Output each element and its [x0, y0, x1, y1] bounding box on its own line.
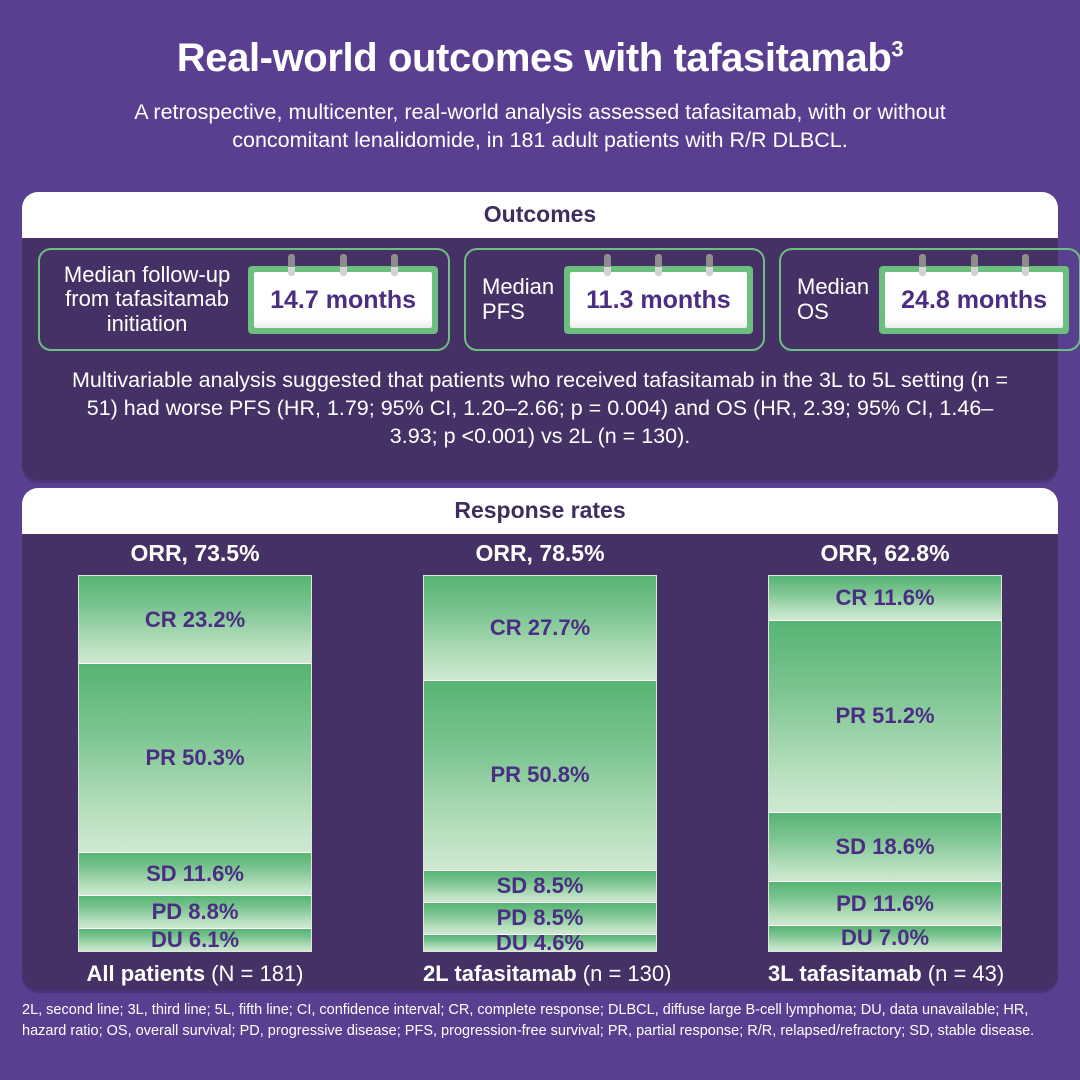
bar-segment-label: DU 4.6% [496, 934, 584, 951]
calendar-face: 24.8 months [885, 272, 1063, 328]
page-title: Real-world outcomes with tafasitamab3 [0, 0, 1080, 80]
outcomes-panel: Outcomes Median follow-up from tafasitam… [22, 192, 1058, 480]
calendar-rings [564, 254, 753, 276]
bar-caption: 3L tafasitamab (n = 43) [768, 961, 1002, 987]
bar-segment-du: DU 4.6% [424, 934, 656, 951]
calendar-ring-icon [340, 254, 347, 276]
bar-caption-n: (N = 181) [211, 961, 303, 986]
outcome-label-median-os: Median OS [791, 275, 875, 324]
bar-segment-label: SD 11.6% [146, 861, 244, 887]
orr-label: ORR, 78.5% [423, 540, 657, 567]
bar-segment-cr: CR 11.6% [769, 576, 1001, 620]
bar-segment-label: PR 50.3% [145, 745, 244, 771]
outcome-label-median-pfs: Median PFS [476, 275, 560, 324]
outcome-value-median-pfs: 11.3 months [586, 286, 731, 315]
bar-caption: 2L tafasitamab (n = 130) [423, 961, 657, 987]
calendar-face: 14.7 months [254, 272, 432, 328]
outcomes-panel-title: Outcomes [22, 192, 1058, 238]
bar-segment-label: PD 11.6% [836, 891, 934, 917]
calendar-rings [248, 254, 438, 276]
bar-caption: All patients (N = 181) [78, 961, 312, 987]
bar-segment-label: CR 23.2% [145, 607, 245, 633]
bar-segment-label: CR 11.6% [835, 585, 934, 611]
calendar-card-median-pfs: 11.3 months [564, 266, 753, 334]
bar-segment-sd: SD 11.6% [79, 852, 311, 896]
outcome-card-median-os: Median OS 24.8 months [779, 248, 1080, 351]
bar-segment-cr: CR 23.2% [79, 576, 311, 663]
bar-segment-sd: SD 18.6% [769, 812, 1001, 882]
stacked-bar: CR 27.7%PR 50.8%SD 8.5%PD 8.5%DU 4.6% [423, 575, 657, 952]
response-rates-panel: Response rates ORR, 73.5%CR 23.2%PR 50.3… [22, 488, 1058, 990]
calendar-ring-icon [706, 254, 713, 276]
bar-segment-label: SD 18.6% [835, 834, 934, 860]
bar-segment-pr: PR 50.3% [79, 663, 311, 852]
calendar-ring-icon [288, 254, 295, 276]
bar-caption-n: (n = 43) [928, 961, 1004, 986]
page-title-text: Real-world outcomes with tafasitamab [177, 36, 892, 80]
stacked-bar-chart-group: ORR, 73.5%CR 23.2%PR 50.3%SD 11.6%PD 8.8… [22, 534, 1058, 987]
bar-segment-label: PR 51.2% [835, 703, 934, 729]
response-rates-panel-title: Response rates [22, 488, 1058, 534]
bar-segment-pd: PD 8.5% [424, 902, 656, 934]
bar-segment-cr: CR 27.7% [424, 576, 656, 680]
calendar-face: 11.3 months [570, 272, 747, 328]
bar-segment-label: SD 8.5% [497, 873, 584, 899]
page-title-superscript: 3 [891, 37, 903, 62]
bar-caption-name: 3L tafasitamab [768, 961, 928, 986]
bar-segment-du: DU 7.0% [769, 925, 1001, 951]
bar-caption-name: All patients [86, 961, 211, 986]
calendar-rings [879, 254, 1069, 276]
bar-segment-du: DU 6.1% [79, 928, 311, 951]
orr-label: ORR, 62.8% [768, 540, 1002, 567]
orr-label: ORR, 73.5% [78, 540, 312, 567]
calendar-card-median-os: 24.8 months [879, 266, 1069, 334]
bar-segment-pd: PD 8.8% [79, 895, 311, 928]
page-subtitle: A retrospective, multicenter, real-world… [0, 80, 1080, 155]
calendar-ring-icon [1022, 254, 1029, 276]
calendar-ring-icon [655, 254, 662, 276]
bar-segment-label: DU 6.1% [151, 928, 239, 951]
bar-segment-pr: PR 51.2% [769, 620, 1001, 812]
outcome-value-median-os: 24.8 months [901, 286, 1047, 315]
bar-segment-label: PR 50.8% [490, 762, 589, 788]
outcome-card-median-follow-up: Median follow-up from tafasitamab initia… [38, 248, 450, 351]
outcome-card-median-pfs: Median PFS 11.3 months [464, 248, 765, 351]
outcome-value-median-follow-up: 14.7 months [270, 286, 416, 315]
multivariable-analysis-note: Multivariable analysis suggested that pa… [22, 351, 1058, 451]
bar-segment-label: DU 7.0% [841, 925, 929, 951]
calendar-ring-icon [971, 254, 978, 276]
calendar-ring-icon [919, 254, 926, 276]
chart-column-1: ORR, 73.5%CR 23.2%PR 50.3%SD 11.6%PD 8.8… [78, 540, 312, 987]
outcome-label-median-follow-up: Median follow-up from tafasitamab initia… [50, 263, 244, 337]
chart-column-3: ORR, 62.8%CR 11.6%PR 51.2%SD 18.6%PD 11.… [768, 540, 1002, 987]
bar-segment-label: CR 27.7% [490, 615, 590, 641]
calendar-ring-icon [604, 254, 611, 276]
stacked-bar: CR 23.2%PR 50.3%SD 11.6%PD 8.8%DU 6.1% [78, 575, 312, 952]
chart-column-2: ORR, 78.5%CR 27.7%PR 50.8%SD 8.5%PD 8.5%… [423, 540, 657, 987]
bar-segment-label: PD 8.5% [497, 905, 584, 931]
outcomes-row: Median follow-up from tafasitamab initia… [22, 238, 1058, 351]
bar-segment-label: PD 8.8% [152, 899, 239, 925]
bar-caption-n: (n = 130) [583, 961, 672, 986]
bar-segment-pd: PD 11.6% [769, 881, 1001, 925]
calendar-ring-icon [391, 254, 398, 276]
bar-segment-pr: PR 50.8% [424, 680, 656, 870]
bar-segment-sd: SD 8.5% [424, 870, 656, 902]
calendar-card-median-follow-up: 14.7 months [248, 266, 438, 334]
bar-caption-name: 2L tafasitamab [423, 961, 583, 986]
abbreviations-footnote: 2L, second line; 3L, third line; 5L, fif… [22, 1000, 1068, 1041]
stacked-bar: CR 11.6%PR 51.2%SD 18.6%PD 11.6%DU 7.0% [768, 575, 1002, 952]
